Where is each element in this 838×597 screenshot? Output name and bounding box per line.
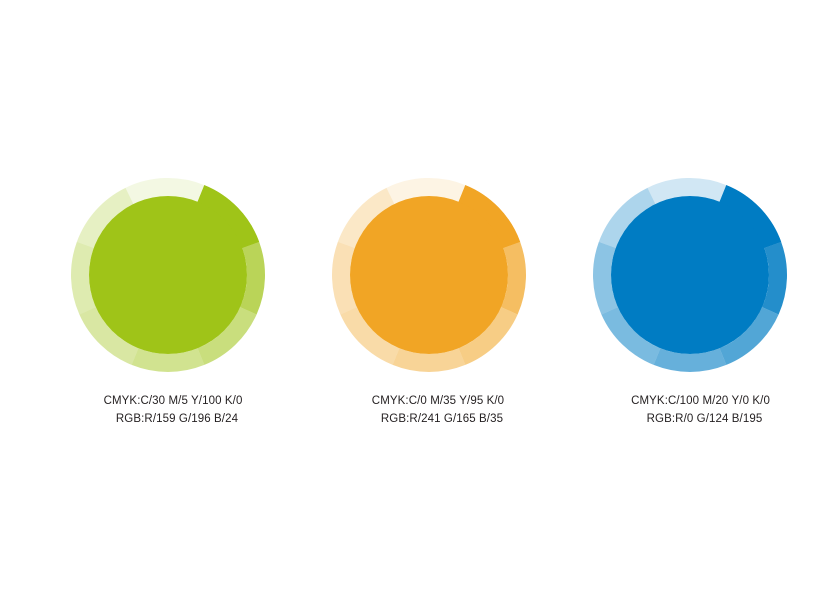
swatch-group: CMYK:C/30 M/5 Y/100 K/0RGB:R/159 G/196 B… <box>0 0 838 597</box>
blue-swatch-core[interactable] <box>611 196 769 354</box>
palette-canvas: CMYK:C/30 M/5 Y/100 K/0RGB:R/159 G/196 B… <box>0 0 838 597</box>
blue-swatch-cmyk-value: CMYK:C/100 M/20 Y/0 K/0 <box>623 392 778 410</box>
blue-swatch[interactable]: CMYK:C/100 M/20 Y/0 K/0RGB:R/0 G/124 B/1… <box>0 0 838 597</box>
blue-swatch-figure[interactable] <box>592 177 788 373</box>
blue-swatch-wheel <box>592 177 788 373</box>
blue-swatch-rgb-value: RGB:R/0 G/124 B/195 <box>631 410 778 428</box>
blue-swatch-caption: CMYK:C/100 M/20 Y/0 K/0RGB:R/0 G/124 B/1… <box>623 392 778 428</box>
